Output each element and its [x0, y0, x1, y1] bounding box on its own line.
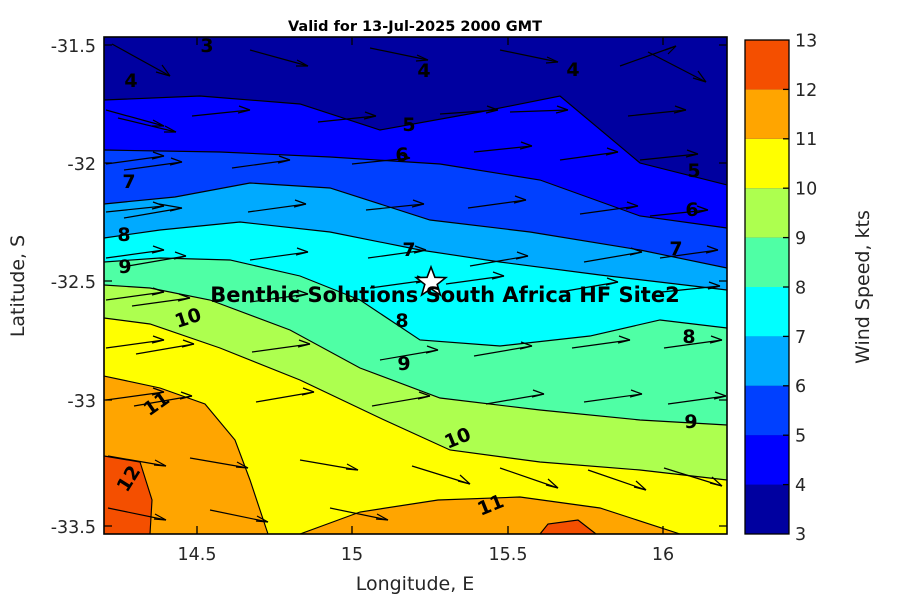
colorbar-swatch-10-11 [745, 139, 789, 188]
colorbar-tick-label: 7 [795, 328, 806, 348]
y-axis-label: Latitude, S [7, 235, 29, 337]
x-tick-label: 15 [341, 545, 363, 565]
colorbar-tick-label: 8 [795, 278, 806, 298]
colorbar-tick-label: 13 [795, 31, 817, 51]
contour-label: 6 [395, 144, 408, 166]
y-tick-label: -32.5 [51, 273, 96, 293]
colorbar-swatch-9-10 [745, 188, 789, 237]
contour-label: 3 [200, 35, 213, 57]
figure-canvas: 14.5 15 15.5 16 -31.5 -32 -32.5 -33 -33.… [0, 0, 900, 600]
contour-label: 7 [669, 238, 682, 260]
contour-label: 4 [124, 70, 137, 92]
x-axis-label: Longitude, E [356, 573, 475, 595]
colorbar-tick-label: 5 [795, 427, 806, 447]
contour-label: 8 [395, 310, 408, 332]
colorbar-tick-label: 9 [795, 229, 806, 249]
contour-label: 4 [566, 59, 579, 81]
wind-speed-contour-figure: 14.5 15 15.5 16 -31.5 -32 -32.5 -33 -33.… [0, 0, 900, 600]
colorbar-tick-label: 11 [795, 130, 817, 150]
colorbar-swatch-6-7 [745, 336, 789, 385]
colorbar-swatch-8-9 [745, 238, 789, 287]
contour-label: 5 [687, 160, 700, 182]
y-tick-label: -33.5 [51, 518, 96, 538]
contour-label: 7 [122, 171, 135, 193]
x-tick-label: 15.5 [489, 545, 528, 565]
contour-label: 7 [402, 239, 415, 261]
colorbar-swatch-7-8 [745, 287, 789, 336]
colorbar-swatch-12-13 [745, 40, 789, 89]
x-tick-label: 16 [652, 545, 674, 565]
y-tick-label: -32 [67, 155, 96, 175]
contour-label: 8 [682, 326, 695, 348]
contour-label: 9 [684, 411, 697, 433]
colorbar-swatch-3-4 [745, 485, 789, 534]
colorbar-label: Wind Speed, kts [852, 210, 874, 364]
contour-label: 8 [117, 224, 130, 246]
colorbar-swatch-4-5 [745, 435, 789, 484]
contour-label: 5 [402, 114, 415, 136]
colorbar-swatch-11-12 [745, 89, 789, 138]
colorbar-tick-label: 10 [795, 180, 817, 200]
x-tick-label: 14.5 [178, 545, 217, 565]
colorbar-tick-label: 6 [795, 377, 806, 397]
contour-label: 9 [118, 256, 131, 278]
y-tick-label: -31.5 [51, 37, 96, 57]
colorbar-swatch-5-6 [745, 386, 789, 435]
contour-label: 9 [397, 353, 410, 375]
colorbar-tick-label: 12 [795, 81, 817, 101]
y-tick-label: -33 [67, 392, 96, 412]
plot-title: Valid for 13-Jul-2025 2000 GMT [288, 19, 542, 35]
contour-label: 6 [685, 199, 698, 221]
colorbar-tick-label: 3 [795, 525, 806, 545]
contour-label: 4 [417, 60, 430, 82]
site-label: Benthic Solutions South Africa HF Site2 [210, 283, 679, 307]
colorbar-tick-label: 4 [795, 476, 806, 496]
